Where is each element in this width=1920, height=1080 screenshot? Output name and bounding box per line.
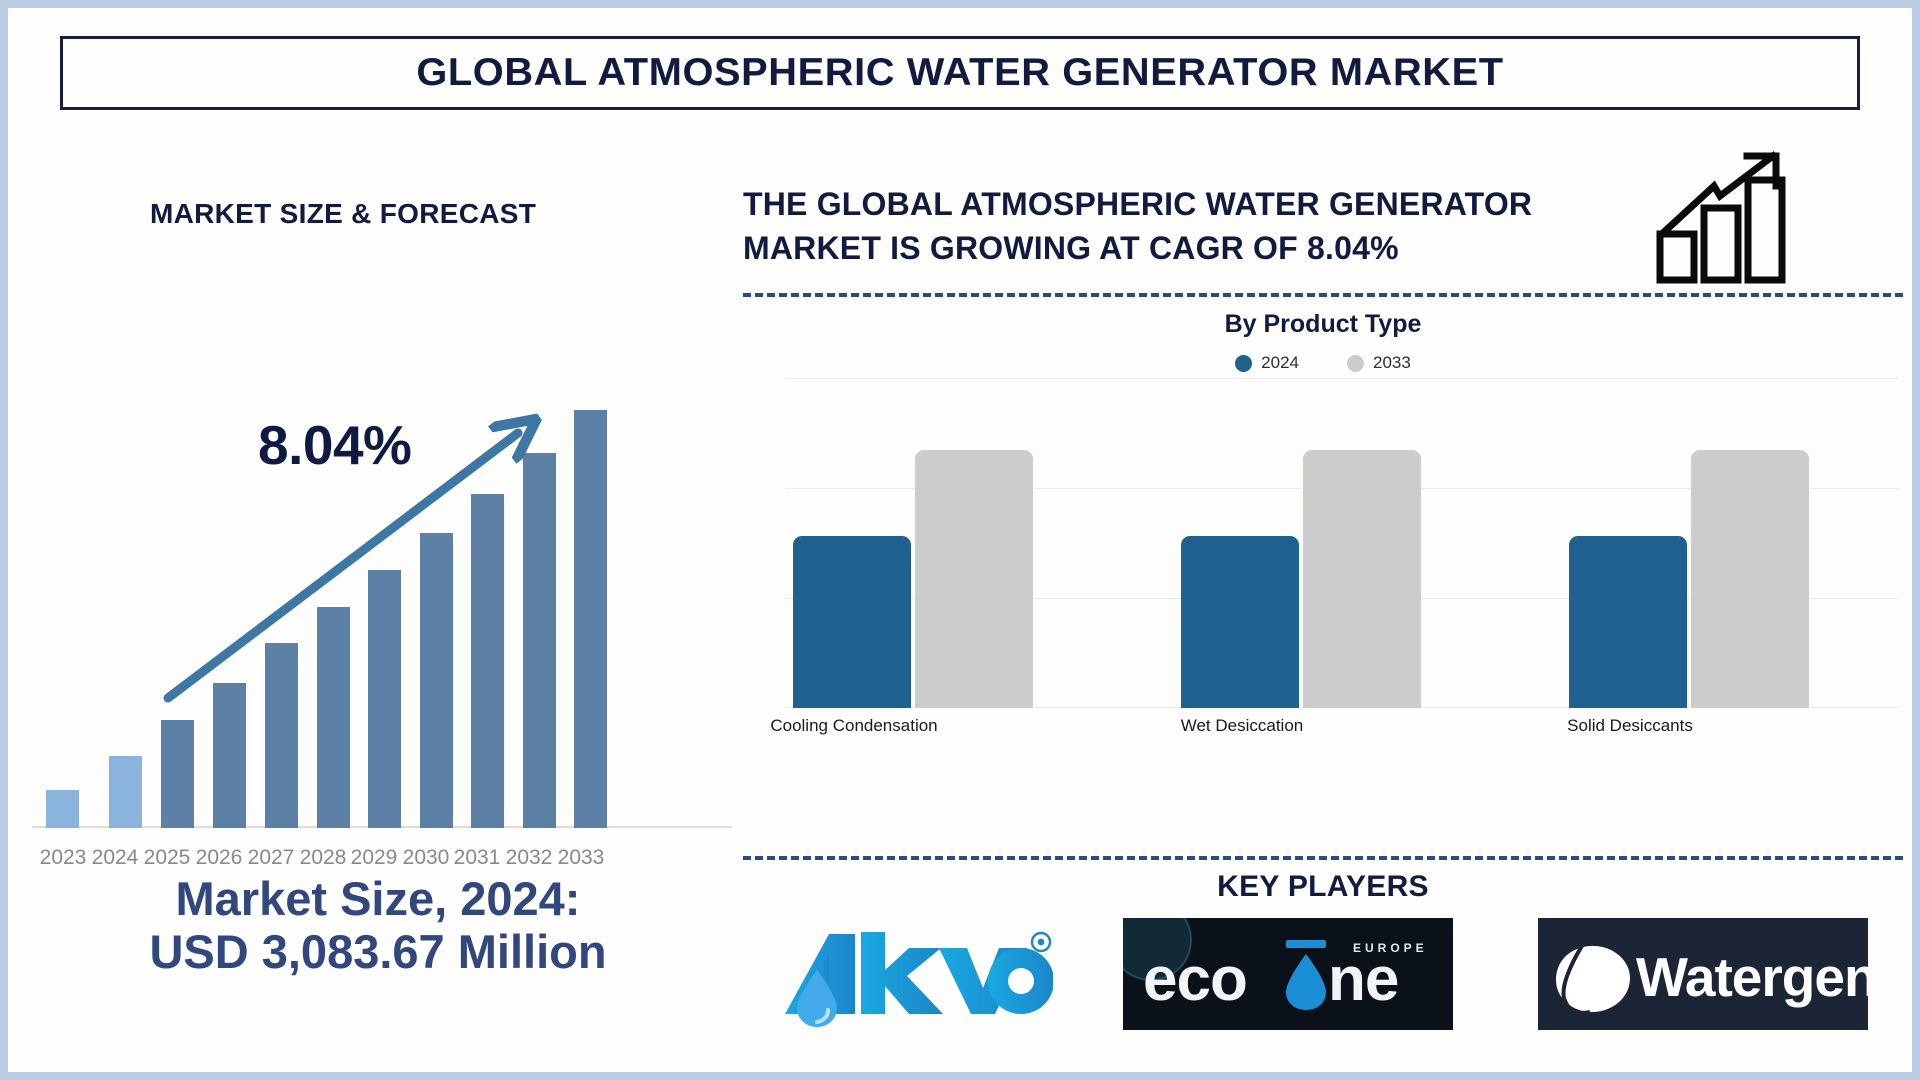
legend-label-2024: 2024 [1261,353,1299,373]
cagr-headline: THE GLOBAL ATMOSPHERIC WATER GENERATOR M… [743,183,1623,270]
key-players-heading: KEY PLAYERS [743,870,1903,904]
chart-legend: 2024 2033 [743,353,1903,373]
title-banner: GLOBAL ATMOSPHERIC WATER GENERATOR MARKE… [60,36,1860,110]
segment-chart-title: By Product Type [743,310,1903,339]
watergen-wordmark: Watergen [1636,946,1868,1008]
up-trend-arrow-icon [28,278,728,968]
market-size-value-line1: Market Size, 2024: [8,873,748,926]
legend-item-2024[interactable]: 2024 [1235,353,1299,373]
logo-watergen[interactable]: Watergen [1538,918,1868,1030]
bar-wet-desiccation-2033 [1303,450,1421,708]
divider-bottom [743,856,1903,860]
bar-cooling-condensation-2024 [793,536,911,708]
market-size-panel: MARKET SIZE & FORECAST 8.04% 2023 2024 2… [8,118,748,1068]
x-label-solid-desiccants: Solid Desiccants [1480,716,1780,736]
logo-ecoone[interactable]: eco ne EUROPE [1123,918,1453,1030]
legend-item-2033[interactable]: 2033 [1347,353,1411,373]
bar-solid-desiccants-2033 [1691,450,1809,708]
x-label-wet-desiccation: Wet Desiccation [1092,716,1392,736]
market-size-value-line2: USD 3,083.67 Million [8,926,748,979]
svg-text:ne: ne [1328,945,1398,1014]
gridline-top [785,378,1898,379]
legend-swatch-2033 [1347,355,1364,372]
divider-top [743,293,1903,297]
registered-trademark-icon [1032,933,1050,951]
bar-cooling-condensation-2033 [915,450,1033,708]
logo-akvo[interactable] [733,918,1053,1030]
x-label-cooling-condensation: Cooling Condensation [704,716,1004,736]
product-type-bar-chart: Cooling Condensation Wet Desiccation Sol… [785,378,1898,708]
segment-panel: THE GLOBAL ATMOSPHERIC WATER GENERATOR M… [743,118,1903,1068]
legend-swatch-2024 [1235,355,1252,372]
ecoone-region-label: EUROPE [1353,941,1428,955]
market-size-bar-chart: 2023 2024 2025 2026 2027 2028 2029 2030 … [28,278,728,968]
market-size-heading: MARKET SIZE & FORECAST [150,198,536,230]
key-players-logos: eco ne EUROPE Watergen [743,918,1903,1038]
infographic-page: GLOBAL ATMOSPHERIC WATER GENERATOR MARKE… [8,8,1912,1072]
legend-label-2033: 2033 [1373,353,1411,373]
market-size-value: Market Size, 2024: USD 3,083.67 Million [8,873,748,978]
bar-solid-desiccants-2024 [1569,536,1687,708]
bar-wet-desiccation-2024 [1181,536,1299,708]
growth-bar-chart-arrow-icon [1648,148,1798,288]
ecoone-wordmark: eco [1143,945,1247,1014]
page-title: GLOBAL ATMOSPHERIC WATER GENERATOR MARKE… [416,51,1503,95]
